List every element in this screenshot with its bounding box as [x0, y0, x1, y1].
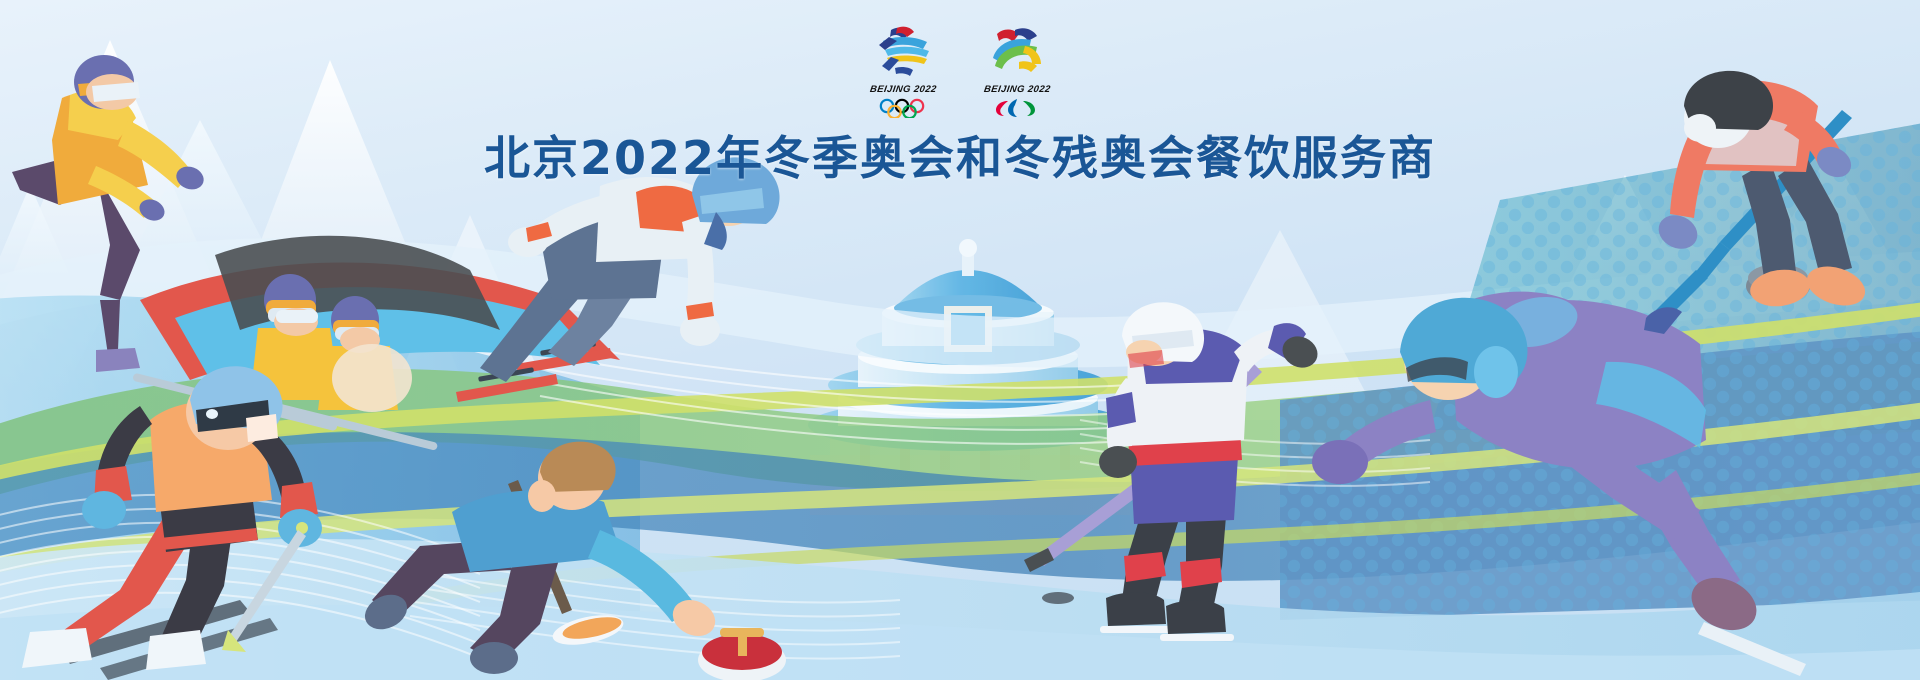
curler-delivering	[359, 442, 786, 680]
olympic-emblem: BEIJING 2022	[860, 24, 946, 118]
olympic-rings-icon	[876, 98, 930, 118]
ice-hockey-player	[1024, 302, 1323, 641]
speed-skater-center	[456, 157, 780, 402]
agitos-icon	[990, 98, 1044, 118]
olympic-wordmark: BEIJING 2022	[869, 84, 937, 95]
paralympic-emblem: BEIJING 2022	[974, 24, 1060, 118]
paralympic-emblem-mark	[981, 24, 1053, 82]
cross-country-skier	[22, 366, 322, 680]
emblem-group: BEIJING 2022 BEIJING 2022	[0, 24, 1920, 118]
speed-skater-right	[1312, 290, 1806, 676]
page-title: 北京2022年冬季奥会和冬残奥会餐饮服务商	[0, 122, 1920, 188]
olympic-emblem-mark	[867, 24, 939, 82]
paralympic-wordmark: BEIJING 2022	[983, 84, 1051, 95]
olympic-catering-banner: BEIJING 2022 BEIJING 2022	[0, 0, 1920, 680]
